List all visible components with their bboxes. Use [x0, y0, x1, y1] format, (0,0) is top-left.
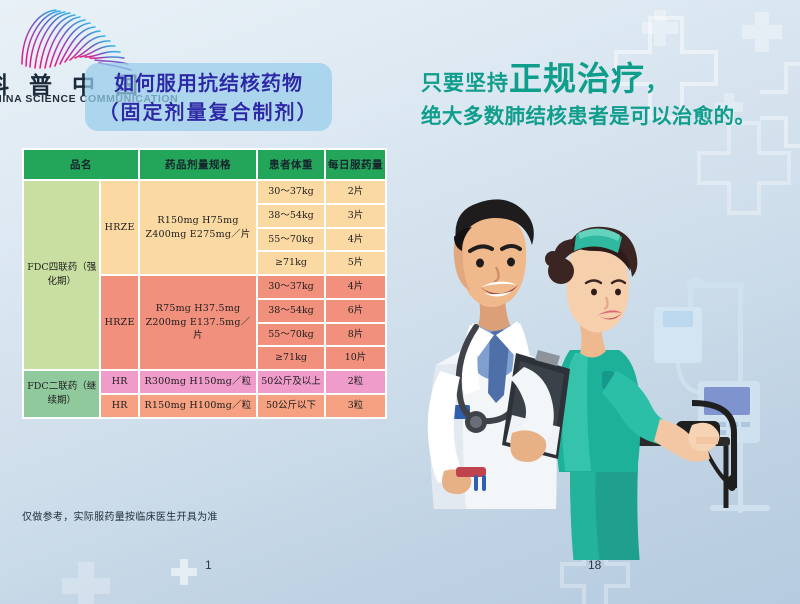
table-header-name: 品名 [24, 150, 138, 179]
dose-cell: 5片 [326, 252, 385, 274]
weight-cell: 55～70kg [258, 324, 324, 346]
headline-line2: 绝大多数肺结核患者是可以治愈的。 [421, 106, 791, 127]
table-header-row: 品名 药品剂量规格 患者体重 每日服药量 [24, 150, 385, 179]
drug-code-cell: HR [101, 371, 138, 393]
drug-code-cell: HRZE [101, 181, 138, 274]
background-cross-small2-icon [740, 10, 784, 54]
poster-canvas: 科普中国 CHINA SCIENCE COMMUNICATION 如何服用抗结核… [0, 0, 800, 604]
dose-cell: 4片 [326, 229, 385, 251]
headline-line1: 只要坚持正规治疗， [421, 62, 791, 95]
weight-cell: 30～37kg [258, 181, 324, 203]
table-footnote: 仅做参考，实际服药量按临床医生开具为准 [22, 508, 218, 523]
dose-cell: 8片 [326, 324, 385, 346]
table-body: FDC四联药（强化期） HRZE R150mg H75mg Z400mg E27… [24, 181, 385, 417]
page-number-right: 18 [588, 558, 601, 572]
drug-spec-cell: R150mg H100mg／粒 [140, 395, 256, 417]
page-title-box: 如何服用抗结核药物 （固定剂量复合制剂） [85, 63, 332, 131]
page-title-line1: 如何服用抗结核药物 [85, 67, 332, 96]
weight-cell: ≥71kg [258, 347, 324, 369]
group-name-cell: FDC二联药（继续期） [24, 371, 99, 417]
background-cross-bottom-left-icon [60, 560, 112, 604]
doctor-and-nurse-illustration [420, 175, 800, 560]
drug-code-cell: HRZE [101, 276, 138, 369]
dose-cell: 2片 [326, 181, 385, 203]
drug-spec-cell: R150mg H75mg Z400mg E275mg／片 [140, 181, 256, 274]
group-name-cell: FDC四联药（强化期） [24, 181, 99, 369]
table-row: FDC二联药（继续期） HR R300mg H150mg／粒 50公斤及以上 2… [24, 371, 385, 393]
dose-table-wrapper: 品名 药品剂量规格 患者体重 每日服药量 FDC四联药（强化期） HRZE R1… [22, 148, 387, 419]
nurse-figure [545, 227, 720, 560]
weight-cell: ≥71kg [258, 252, 324, 274]
page-number-left: 1 [205, 558, 212, 572]
weight-cell: 30～37kg [258, 276, 324, 298]
weight-cell: 50公斤及以上 [258, 371, 324, 393]
weight-cell: 55～70kg [258, 229, 324, 251]
drug-spec-cell: R300mg H150mg／粒 [140, 371, 256, 393]
headline-line1-small: 只要坚持 [421, 71, 509, 95]
table-header-dose: 每日服药量 [326, 150, 385, 179]
page-cross-icon [170, 558, 198, 586]
table-header-spec: 药品剂量规格 [140, 150, 256, 179]
dose-cell: 3片 [326, 205, 385, 227]
doctor-figure [428, 199, 570, 509]
drug-spec-cell: R75mg H37.5mg Z200mg E137.5mg／片 [140, 276, 256, 369]
headline: 只要坚持正规治疗， 绝大多数肺结核患者是可以治愈的。 [421, 62, 791, 127]
page-title-line2: （固定剂量复合制剂） [85, 96, 332, 125]
weight-cell: 38～54kg [258, 300, 324, 322]
table-header-weight: 患者体重 [258, 150, 324, 179]
dose-cell: 10片 [326, 347, 385, 369]
weight-cell: 38～54kg [258, 205, 324, 227]
background-cross-small-icon [640, 8, 680, 48]
weight-cell: 50公斤以下 [258, 395, 324, 417]
dose-cell: 4片 [326, 276, 385, 298]
dose-cell: 3粒 [326, 395, 385, 417]
table-row: FDC四联药（强化期） HRZE R150mg H75mg Z400mg E27… [24, 181, 385, 203]
dose-cell: 6片 [326, 300, 385, 322]
drug-code-cell: HR [101, 395, 138, 417]
dose-cell: 2粒 [326, 371, 385, 393]
headline-line1-big: 正规治疗 [509, 59, 645, 98]
dose-table: 品名 药品剂量规格 患者体重 每日服药量 FDC四联药（强化期） HRZE R1… [22, 148, 387, 419]
headline-line1-comma: ， [645, 68, 669, 96]
